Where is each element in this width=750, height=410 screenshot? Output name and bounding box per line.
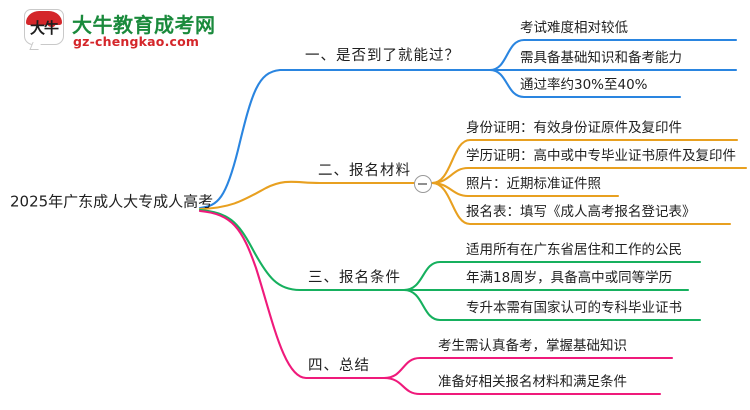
logo-domain: gz-chengkao.com xyxy=(73,34,199,49)
mindmap-branch-2[interactable]: 二、报名材料 xyxy=(318,159,411,180)
mindmap-branch-4-leaf-2[interactable]: 准备好相关报名材料和满足条件 xyxy=(438,370,627,390)
logo-mark-icon: 大牛 xyxy=(22,8,66,50)
mindmap-branch-3-leaf-3[interactable]: 专升本需有国家认可的专科毕业证书 xyxy=(466,296,682,316)
mindmap-canvas: 大牛 大牛教育成考网 gz-chengkao.com xyxy=(0,0,750,410)
mindmap-branch-4[interactable]: 四、总结 xyxy=(308,354,370,375)
connector-branch-4 xyxy=(200,211,384,378)
mindmap-branch-2-leaf-4[interactable]: 报名表：填写《成人高考报名登记表》 xyxy=(466,200,696,220)
connector-branch-1 xyxy=(200,70,490,208)
mindmap-branch-3-leaf-1[interactable]: 适用所有在广东省居住和工作的公民 xyxy=(466,238,682,258)
site-logo: 大牛 大牛教育成考网 gz-chengkao.com xyxy=(22,6,232,54)
mindmap-branch-1-leaf-2[interactable]: 需具备基础知识和备考能力 xyxy=(520,46,682,66)
mindmap-branch-2-leaf-2[interactable]: 学历证明：高中或中专毕业证书原件及复印件 xyxy=(466,144,736,164)
mindmap-branch-2-leaf-1[interactable]: 身份证明：有效身份证原件及复印件 xyxy=(466,116,682,136)
mindmap-branch-1-leaf-3[interactable]: 通过率约30%至40% xyxy=(520,73,648,93)
logo-mark-text: 大牛 xyxy=(26,21,62,36)
mindmap-branch-3-leaf-2[interactable]: 年满18周岁，具备高中或同等学历 xyxy=(466,266,672,286)
connector-branch-2 xyxy=(200,182,414,209)
mindmap-branch-1[interactable]: 一、是否到了就能过？ xyxy=(305,44,460,65)
mindmap-branch-3[interactable]: 三、报名条件 xyxy=(308,266,401,287)
mindmap-branch-2-leaf-3[interactable]: 照片：近期标准证件照 xyxy=(466,172,601,192)
mindmap-branch-1-leaf-1[interactable]: 考试难度相对较低 xyxy=(520,16,628,36)
mindmap-root-node[interactable]: 2025年广东成人大专成人高考 xyxy=(10,191,213,212)
mindmap-branch-4-leaf-1[interactable]: 考生需认真备考，掌握基础知识 xyxy=(438,334,627,354)
minus-circle-icon[interactable] xyxy=(414,175,432,193)
